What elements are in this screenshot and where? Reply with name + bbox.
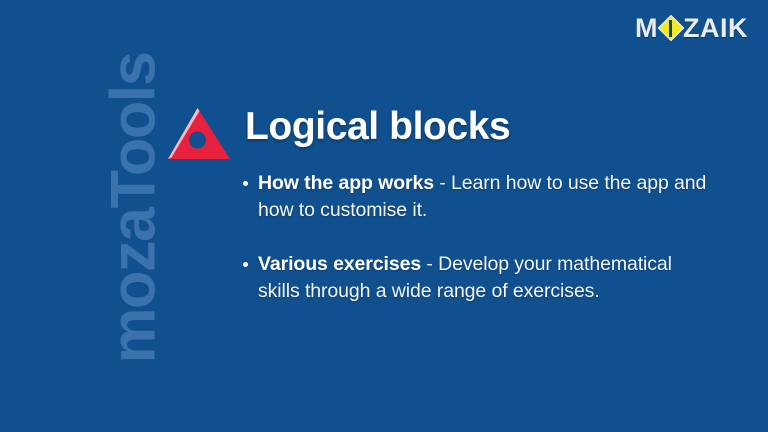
bullet-dash: - bbox=[421, 253, 438, 275]
bullet-dot-icon bbox=[243, 262, 248, 267]
bullet-text: Various exercises - Develop your mathema… bbox=[258, 251, 713, 306]
bullet-list: How the app works - Learn how to use the… bbox=[243, 170, 713, 305]
watermark-mozatools-label: mozaTools bbox=[103, 24, 166, 364]
logical-blocks-triangle-icon bbox=[166, 106, 232, 162]
bullet-lead: How the app works bbox=[258, 172, 434, 194]
triangle-hole bbox=[189, 132, 206, 149]
mozaik-logo-prefix: M bbox=[635, 15, 658, 42]
triangle-svg bbox=[166, 106, 232, 162]
bullet-dot-icon bbox=[243, 181, 248, 186]
mozaik-logo: M ZAIK bbox=[635, 13, 748, 43]
bullet-lead: Various exercises bbox=[258, 253, 421, 275]
bullet-dash: - bbox=[434, 172, 451, 194]
diamond-center-bar bbox=[669, 20, 672, 37]
list-item: How the app works - Learn how to use the… bbox=[243, 170, 713, 225]
mozaik-diamond-icon bbox=[659, 17, 682, 40]
mozaik-logo-suffix: ZAIK bbox=[683, 15, 748, 42]
bullet-text: How the app works - Learn how to use the… bbox=[258, 170, 713, 225]
presentation-slide: mozaTools M ZAIK Logical blocks bbox=[0, 0, 768, 432]
page-title: Logical blocks bbox=[245, 106, 510, 149]
mozaik-logo-letters: M ZAIK bbox=[635, 15, 748, 42]
list-item: Various exercises - Develop your mathema… bbox=[243, 251, 713, 306]
